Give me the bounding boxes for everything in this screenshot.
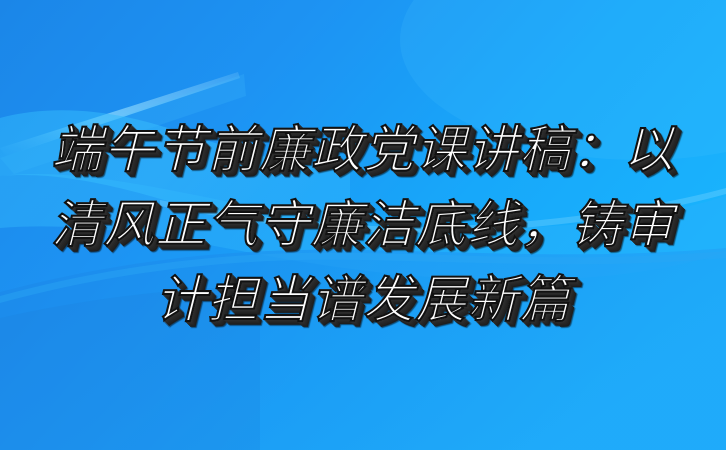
banner-image: 端午节前廉政党课讲稿：以 清风正气守廉洁底线，铸审 计担当谱发展新篇 bbox=[0, 0, 726, 450]
background-decoration bbox=[0, 0, 726, 450]
bottom-left-shade bbox=[0, 286, 260, 450]
